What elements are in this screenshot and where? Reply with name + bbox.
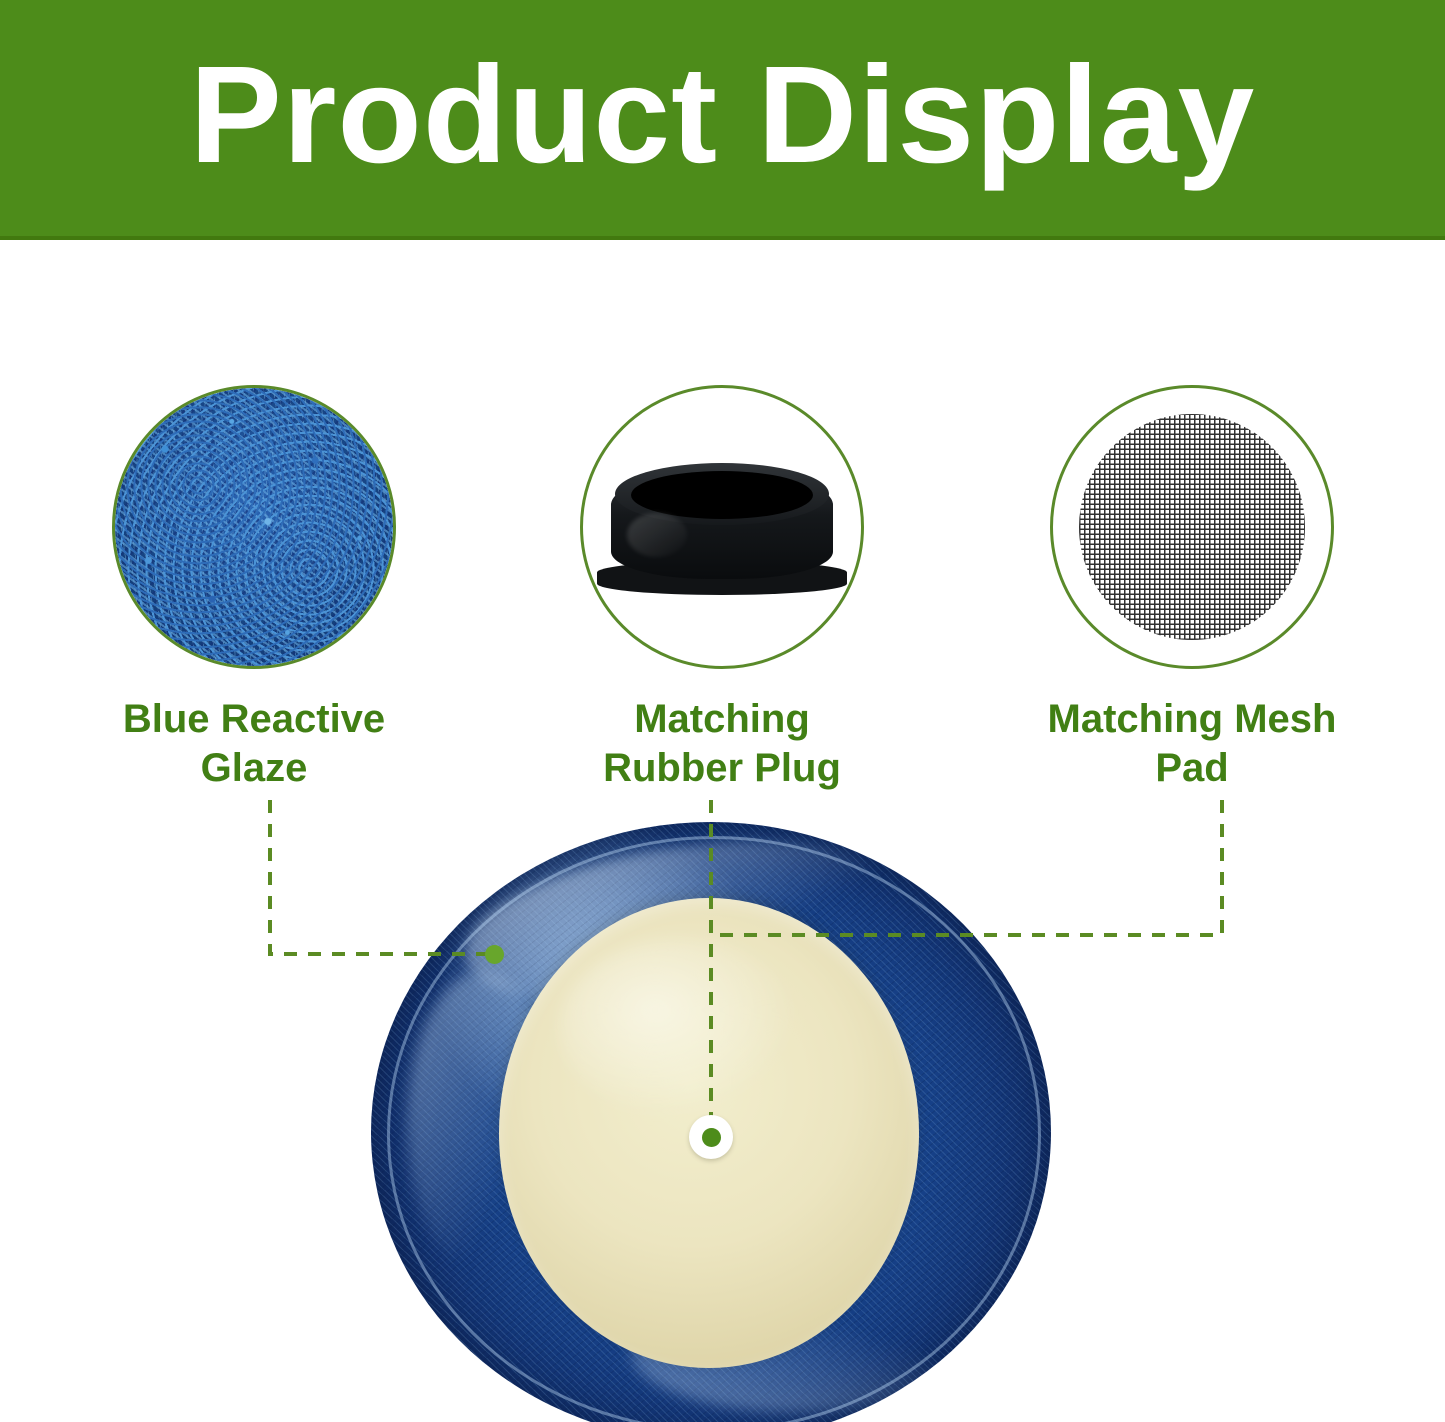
mesh-grid-texture: [1079, 414, 1305, 640]
drain-hole: [689, 1115, 733, 1159]
glaze-swatch-icon: [112, 385, 396, 669]
header-banner: Product Display: [0, 0, 1445, 240]
feature-label-glaze: Blue Reactive Glaze: [104, 695, 404, 793]
bowl-interior-sheen: [559, 938, 799, 1118]
glaze-texture: [115, 388, 393, 666]
feature-label-plug: Matching Rubber Plug: [572, 695, 872, 793]
mesh-pad-icon: [1050, 385, 1334, 669]
plug-bore: [631, 471, 813, 519]
feature-matching-mesh-pad: Matching Mesh Pad: [1042, 385, 1342, 793]
rubber-plug-illustration: [597, 457, 847, 597]
plug-highlight: [627, 513, 687, 557]
drain-hole-endpoint: [702, 1128, 721, 1147]
page-title: Product Display: [190, 46, 1256, 184]
feature-blue-reactive-glaze: Blue Reactive Glaze: [104, 385, 404, 793]
feature-label-mesh: Matching Mesh Pad: [1042, 695, 1342, 793]
mesh-pad-illustration: [1079, 414, 1305, 640]
glaze-connector-endpoint: [485, 945, 504, 964]
product-display-infographic: Product Display Blue Reactive Glaze Matc…: [0, 0, 1445, 1422]
rubber-plug-icon: [580, 385, 864, 669]
feature-matching-rubber-plug: Matching Rubber Plug: [572, 385, 872, 793]
